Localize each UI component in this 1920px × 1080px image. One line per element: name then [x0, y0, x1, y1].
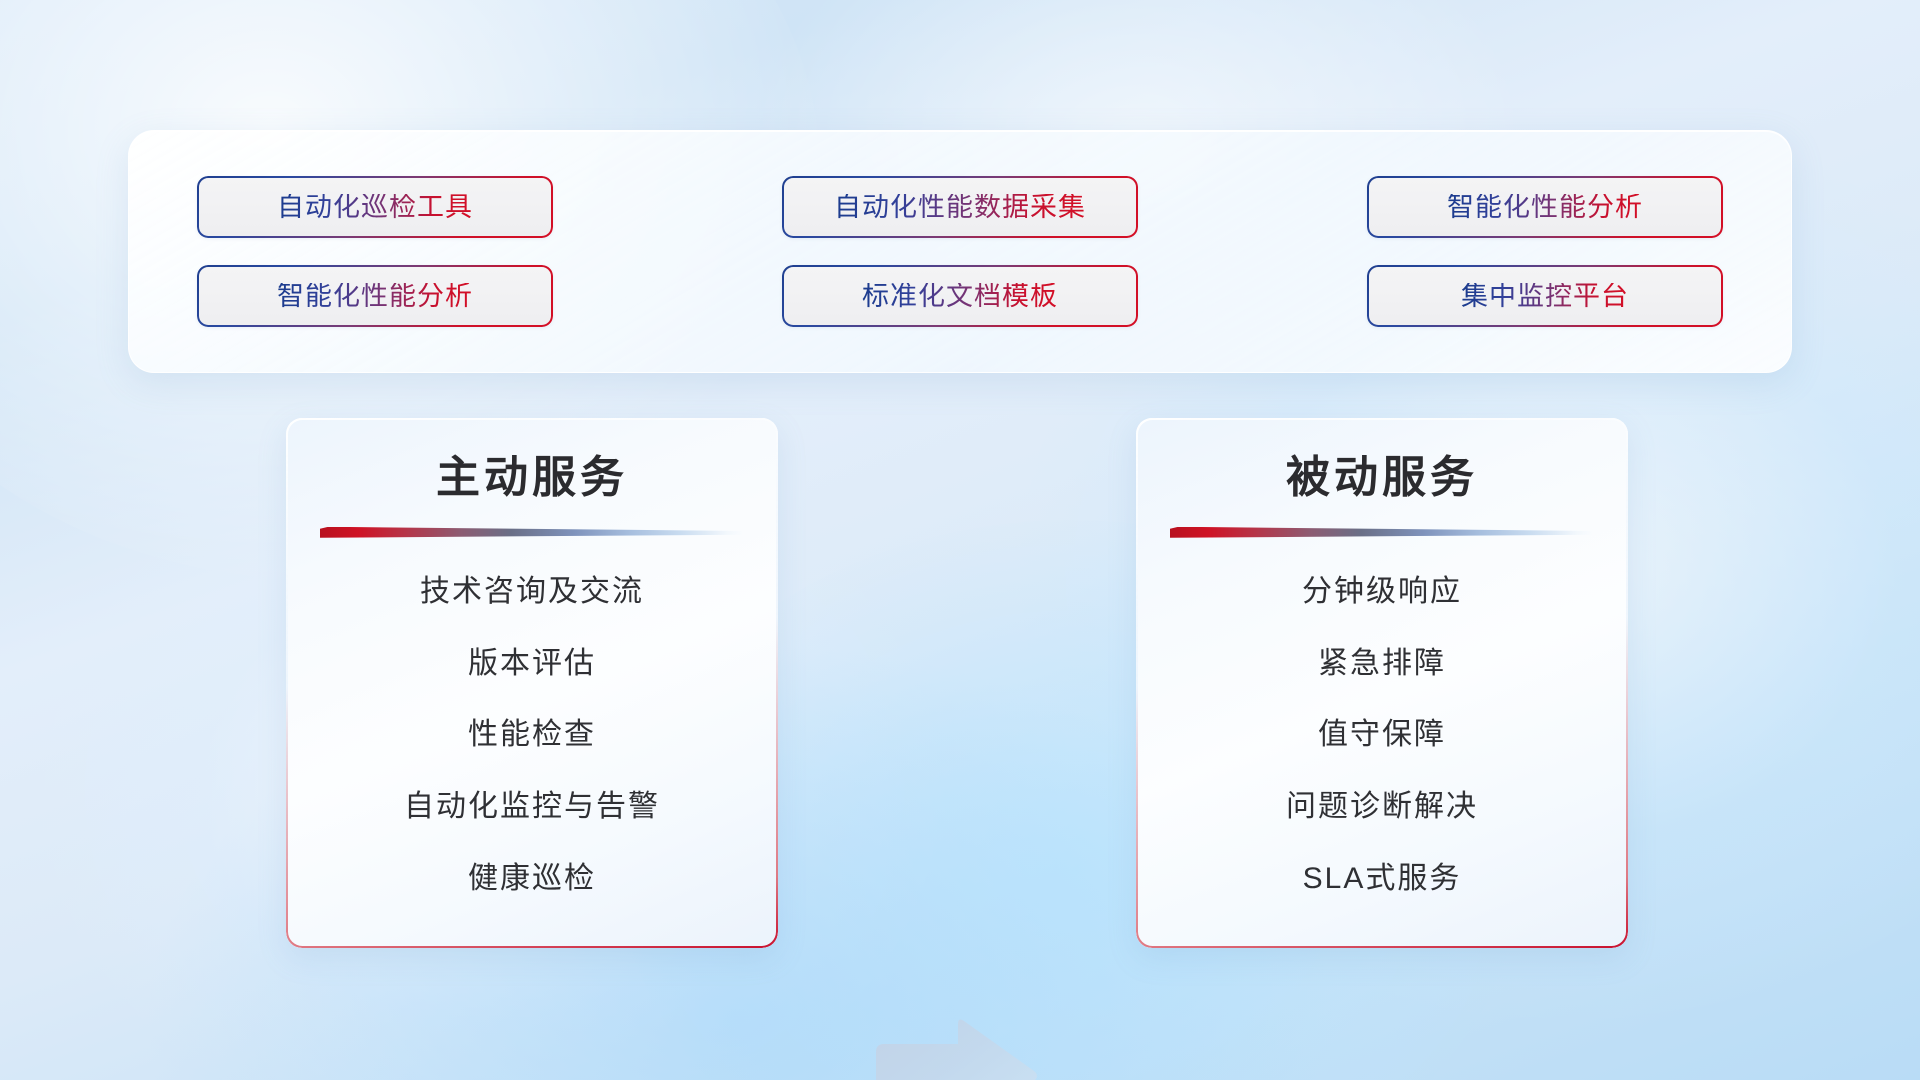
capability-pill[interactable]: 集中监控平台	[1367, 265, 1723, 327]
service-item-list: 技术咨询及交流 版本评估 性能检查 自动化监控与告警 健康巡检	[320, 542, 744, 924]
capability-pill-label: 集中监控平台	[1461, 283, 1629, 310]
service-item-list: 分钟级响应 紧急排障 值守保障 问题诊断解决 SLA式服务	[1170, 542, 1594, 924]
capability-pill-row: 自动化巡检工具 自动化性能数据采集 智能化性能分析	[197, 176, 1723, 238]
capability-pill[interactable]: 智能化性能分析	[1367, 176, 1723, 238]
service-list-item: SLA式服务	[1303, 862, 1462, 895]
service-list-item: 紧急排障	[1318, 647, 1446, 680]
capability-pill-row: 智能化性能分析 标准化文档模板 集中监控平台	[197, 265, 1723, 327]
capability-pill[interactable]: 标准化文档模板	[782, 265, 1138, 327]
service-list-item: 值守保障	[1318, 718, 1446, 751]
service-list-item: 健康巡检	[468, 862, 596, 895]
capability-pill[interactable]: 智能化性能分析	[197, 265, 553, 327]
capability-pill-panel: 自动化巡检工具 自动化性能数据采集 智能化性能分析 智能化性能分析 标准化文档模…	[128, 130, 1792, 373]
arrow-right-icon: 流向：主动服务 到 被动服务	[872, 1018, 1040, 1080]
service-card-title: 主动服务	[320, 452, 744, 505]
capability-pill-label: 智能化性能分析	[277, 283, 473, 310]
service-card-divider	[320, 527, 744, 538]
service-list-item: 自动化监控与告警	[404, 790, 660, 823]
service-list-item: 分钟级响应	[1302, 575, 1462, 608]
capability-pill[interactable]: 自动化巡检工具	[197, 176, 553, 238]
capability-pill-label: 智能化性能分析	[1447, 194, 1643, 221]
service-list-item: 问题诊断解决	[1286, 790, 1478, 823]
diagram-canvas: 自动化巡检工具 自动化性能数据采集 智能化性能分析 智能化性能分析 标准化文档模…	[0, 0, 1920, 1080]
service-list-item: 性能检查	[468, 718, 596, 751]
capability-pill-label: 自动化性能数据采集	[834, 194, 1086, 221]
service-list-item: 版本评估	[468, 647, 596, 680]
service-card-title: 被动服务	[1170, 452, 1594, 505]
service-cards-area: 主动服务 技术咨询及交流 版本评估 性能检查 自动化监控与告警 健康巡检	[0, 418, 1920, 958]
capability-pill-label: 标准化文档模板	[862, 283, 1058, 310]
arrow-label: 流向：主动服务 到 被动服务	[1040, 1018, 1041, 1019]
service-card-proactive[interactable]: 主动服务 技术咨询及交流 版本评估 性能检查 自动化监控与告警 健康巡检	[286, 418, 778, 948]
capability-pill-label: 自动化巡检工具	[277, 194, 473, 221]
capability-pill[interactable]: 自动化性能数据采集	[782, 176, 1138, 238]
service-card-divider	[1170, 527, 1594, 538]
service-list-item: 技术咨询及交流	[420, 575, 644, 608]
service-card-reactive[interactable]: 被动服务 分钟级响应 紧急排障 值守保障 问题诊断解决 SLA式服务	[1136, 418, 1628, 948]
